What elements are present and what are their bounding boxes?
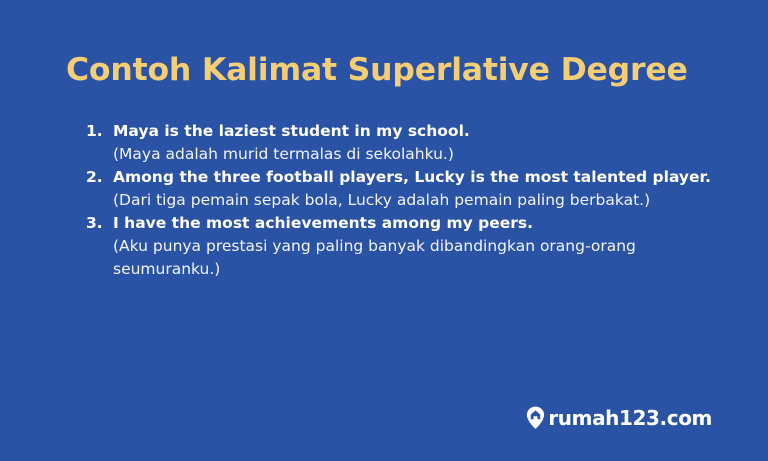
list-item-english: Maya is the laziest student in my school… xyxy=(113,120,726,143)
page-title: Contoh Kalimat Superlative Degree xyxy=(66,52,726,88)
brand-logo-text: rumah123.com xyxy=(548,408,712,428)
list-item-english: Among the three football players, Lucky … xyxy=(113,166,726,189)
list-item: 2. Among the three football players, Luc… xyxy=(86,166,726,212)
list-item-translation: (Maya adalah murid termalas di sekolahku… xyxy=(113,143,726,166)
map-pin-house-icon xyxy=(526,406,545,429)
brand-logo: rumah123.com xyxy=(526,406,712,429)
list-item-english: I have the most achievements among my pe… xyxy=(113,212,726,235)
list-item-translation: (Aku punya prestasi yang paling banyak d… xyxy=(113,235,726,281)
superlative-examples-list: 1. Maya is the laziest student in my sch… xyxy=(86,120,726,281)
slide-canvas: Contoh Kalimat Superlative Degree 1. May… xyxy=(0,0,768,461)
list-item-number: 1. xyxy=(86,120,110,143)
list-item-number: 3. xyxy=(86,212,110,235)
list-item-translation: (Dari tiga pemain sepak bola, Lucky adal… xyxy=(113,189,726,212)
list-item: 1. Maya is the laziest student in my sch… xyxy=(86,120,726,166)
list-item: 3. I have the most achievements among my… xyxy=(86,212,726,281)
list-item-number: 2. xyxy=(86,166,110,189)
